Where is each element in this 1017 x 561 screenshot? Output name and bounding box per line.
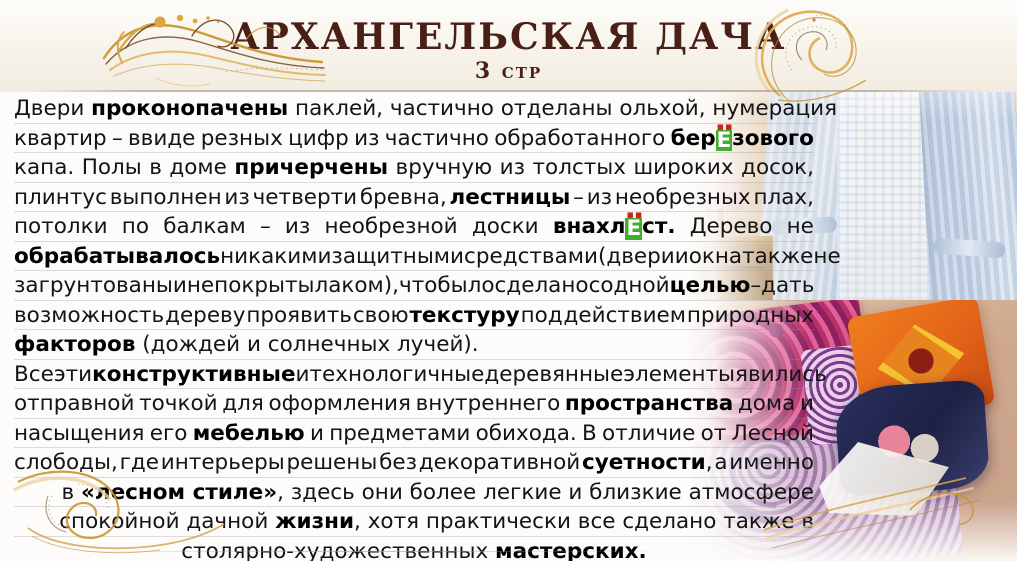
text-line: насыщенияегомебельюипредметамиобихода.Во… xyxy=(14,419,814,449)
text-line: слободы,гдеинтерьерырешеныбездекоративно… xyxy=(14,448,814,478)
text-line: столярно-художественных мастерских. xyxy=(14,537,814,561)
header-divider xyxy=(28,90,990,92)
footer-rule xyxy=(56,551,676,552)
text-line: Двери проконопачены паклей, частично отд… xyxy=(14,94,814,124)
text-line: плинтусвыполненизчетвертибревна,лестницы… xyxy=(14,183,814,213)
yo-highlight: Ё xyxy=(716,130,733,152)
text-line: спокойной дачной жизни, хотя практически… xyxy=(14,507,814,537)
text-line: в «лесном стиле», здесь они более легкие… xyxy=(14,478,814,508)
header-banner: Архангельская дача 3 стр xyxy=(0,0,1017,92)
text-line: капа.Полывдомепричерченывручнуюизтолстых… xyxy=(14,153,814,183)
text-line: отправнойточкойдляоформлениявнутреннегоп… xyxy=(14,389,814,419)
text-line: Всеэтиконструктивныеитехнологичныедеревя… xyxy=(14,360,814,390)
text-line: загрунтованыинепокрытылаком),чтобылосдел… xyxy=(14,271,814,301)
article-body: Двери проконопачены паклей, частично отд… xyxy=(14,94,814,561)
text-line: потолкипобалкам–изнеобрезнойдоскивнахлЁс… xyxy=(14,212,814,242)
text-line: факторов (дождей и солнечных лучей). xyxy=(14,330,814,360)
text-line: квартир–ввидерезныхцифризчастичнообработ… xyxy=(14,124,814,154)
text-line: возможностьдеревупроявитьсвоютекстурупод… xyxy=(14,301,814,331)
text-line: обрабатывалосьникакимизащитнымисредствам… xyxy=(14,242,814,272)
yo-highlight: Ё xyxy=(625,218,642,240)
page-title: Архангельская дача xyxy=(0,16,1017,58)
page-number-label: 3 стр xyxy=(0,58,1017,84)
slide-root: Архангельская дача 3 стр xyxy=(0,0,1017,561)
